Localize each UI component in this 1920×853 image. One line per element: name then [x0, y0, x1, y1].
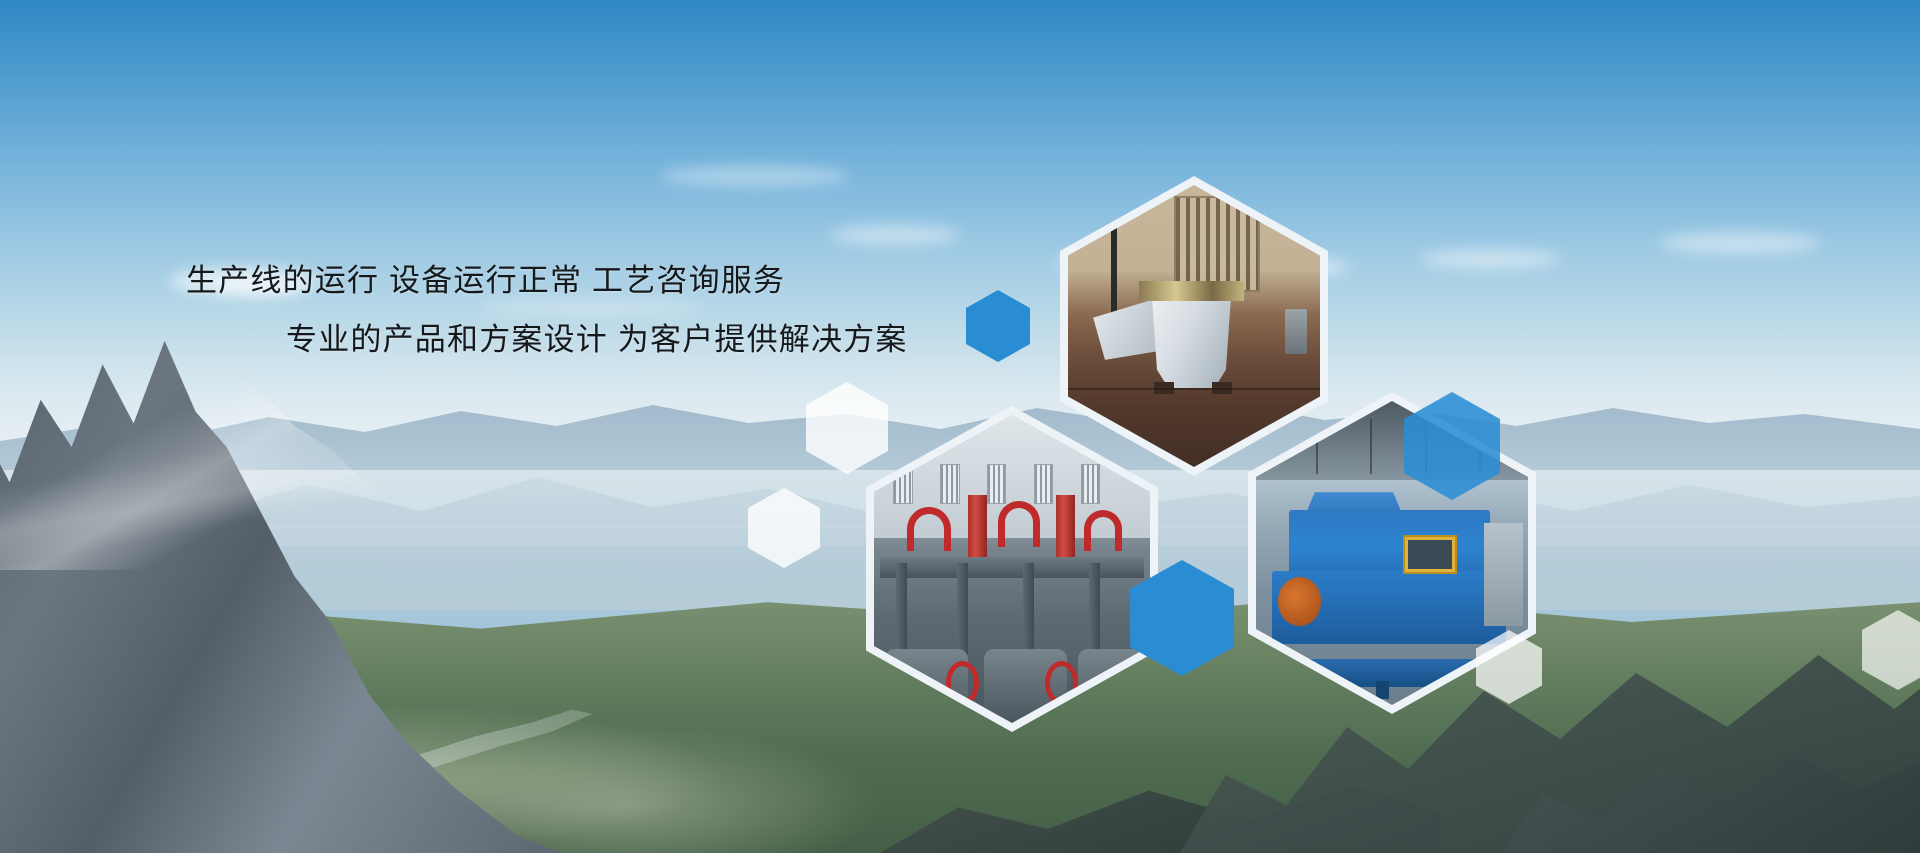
- workshop-window: [1174, 196, 1260, 292]
- red-pipe-arc: [1084, 510, 1123, 550]
- red-pipe-arc: [998, 501, 1039, 547]
- cloud: [1420, 250, 1560, 268]
- machine-column: [1089, 563, 1100, 655]
- ladle-flange: [1139, 281, 1245, 301]
- machine-leg: [1376, 681, 1390, 699]
- motor-drum: [1278, 577, 1322, 626]
- photo-press-line: [874, 415, 1150, 723]
- machine-column: [1023, 563, 1034, 655]
- hero-banner: 生产线的运行 设备运行正常 工艺咨询服务 专业的产品和方案设计 为客户提供解决方…: [0, 0, 1920, 853]
- headline-block: 生产线的运行 设备运行正常 工艺咨询服务 专业的产品和方案设计 为客户提供解决方…: [186, 265, 966, 355]
- building-window: [1081, 464, 1100, 504]
- cloud: [1660, 232, 1820, 254]
- red-pipe-arc: [907, 507, 951, 550]
- photo-casting-ladle: [1068, 185, 1320, 467]
- ladle-body: [1144, 287, 1240, 389]
- headline-line-1: 生产线的运行 设备运行正常 工艺咨询服务: [186, 265, 966, 296]
- machine-column: [957, 563, 968, 655]
- control-panel-screen: [1408, 540, 1452, 570]
- background-landscape-image: [0, 0, 1920, 853]
- control-panel: [1403, 535, 1457, 575]
- conveyor-belt: [1484, 523, 1522, 626]
- headline-line-2: 专业的产品和方案设计 为客户提供解决方案: [286, 324, 966, 355]
- machine-column: [896, 563, 907, 655]
- building-window: [940, 464, 959, 504]
- machine-frame-beam: [880, 557, 1145, 579]
- building-window: [1034, 464, 1053, 504]
- cloud: [830, 225, 960, 245]
- floor-seam: [1068, 388, 1320, 390]
- building-window: [987, 464, 1006, 504]
- ladle-spout: [1093, 298, 1159, 360]
- cloud: [660, 165, 850, 187]
- storage-drum: [1285, 309, 1308, 354]
- roof-truss: [1370, 419, 1372, 474]
